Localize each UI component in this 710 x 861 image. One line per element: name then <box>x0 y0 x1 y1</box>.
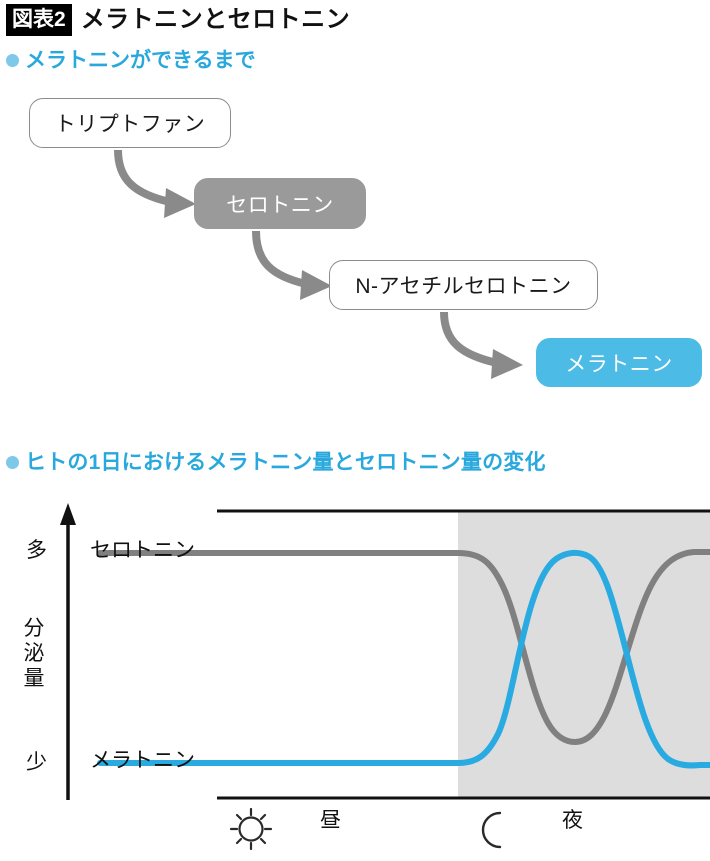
section-heading-daily-variation: ヒトの1日におけるメラトニン量とセロトニン量の変化 <box>6 452 546 473</box>
sun-icon <box>231 809 271 849</box>
section-heading-pathway-label: メラトニンができるまで <box>25 50 256 71</box>
series-label-serotonin: セロトニン <box>90 540 195 561</box>
flow-box-n-acetylserotonin-label: N-アセチルセロトニン <box>355 270 571 300</box>
page-title: メラトニンとセロトニン <box>81 8 351 32</box>
x-axis-label-night: 夜 <box>562 810 583 831</box>
flow-box-n-acetylserotonin: N-アセチルセロトニン <box>329 260 598 310</box>
y-axis-label-low: 少 <box>26 752 47 773</box>
flow-box-tryptophan: トリプトファン <box>29 98 231 148</box>
series-label-melatonin: メラトニン <box>90 750 195 771</box>
page-header: 図表2 メラトニンとセロトニン <box>6 4 350 36</box>
daily-secretion-chart: 多 少 分 泌 量 セロトニン メラトニン 昼 夜 <box>0 495 710 861</box>
flow-box-melatonin-label: メラトニン <box>565 348 673 378</box>
section-heading-daily-variation-label: ヒトの1日におけるメラトニン量とセロトニン量の変化 <box>25 452 546 473</box>
flow-box-tryptophan-label: トリプトファン <box>55 108 206 138</box>
section-heading-pathway: メラトニンができるまで <box>6 50 256 71</box>
flow-box-melatonin: メラトニン <box>536 338 702 387</box>
y-axis-title: 分 泌 量 <box>22 617 46 691</box>
x-axis-label-day: 昼 <box>320 810 341 831</box>
y-axis-label-high: 多 <box>26 540 47 561</box>
bullet-dot-icon <box>6 456 19 469</box>
figure-badge: 図表2 <box>6 4 72 36</box>
arrow-serotonin-to-nacetylserotonin <box>256 231 332 300</box>
flow-box-serotonin: セロトニン <box>194 178 366 229</box>
flow-box-serotonin-label: セロトニン <box>226 189 334 219</box>
bullet-dot-icon <box>6 54 19 67</box>
y-axis <box>60 503 76 800</box>
moon-icon <box>483 813 500 847</box>
biosynthesis-flow-diagram: トリプトファン セロトニン N-アセチルセロトニン メラトニン <box>0 90 710 400</box>
arrow-tryptophan-to-serotonin <box>118 150 196 218</box>
arrow-nacetylserotonin-to-melatonin <box>444 312 523 379</box>
